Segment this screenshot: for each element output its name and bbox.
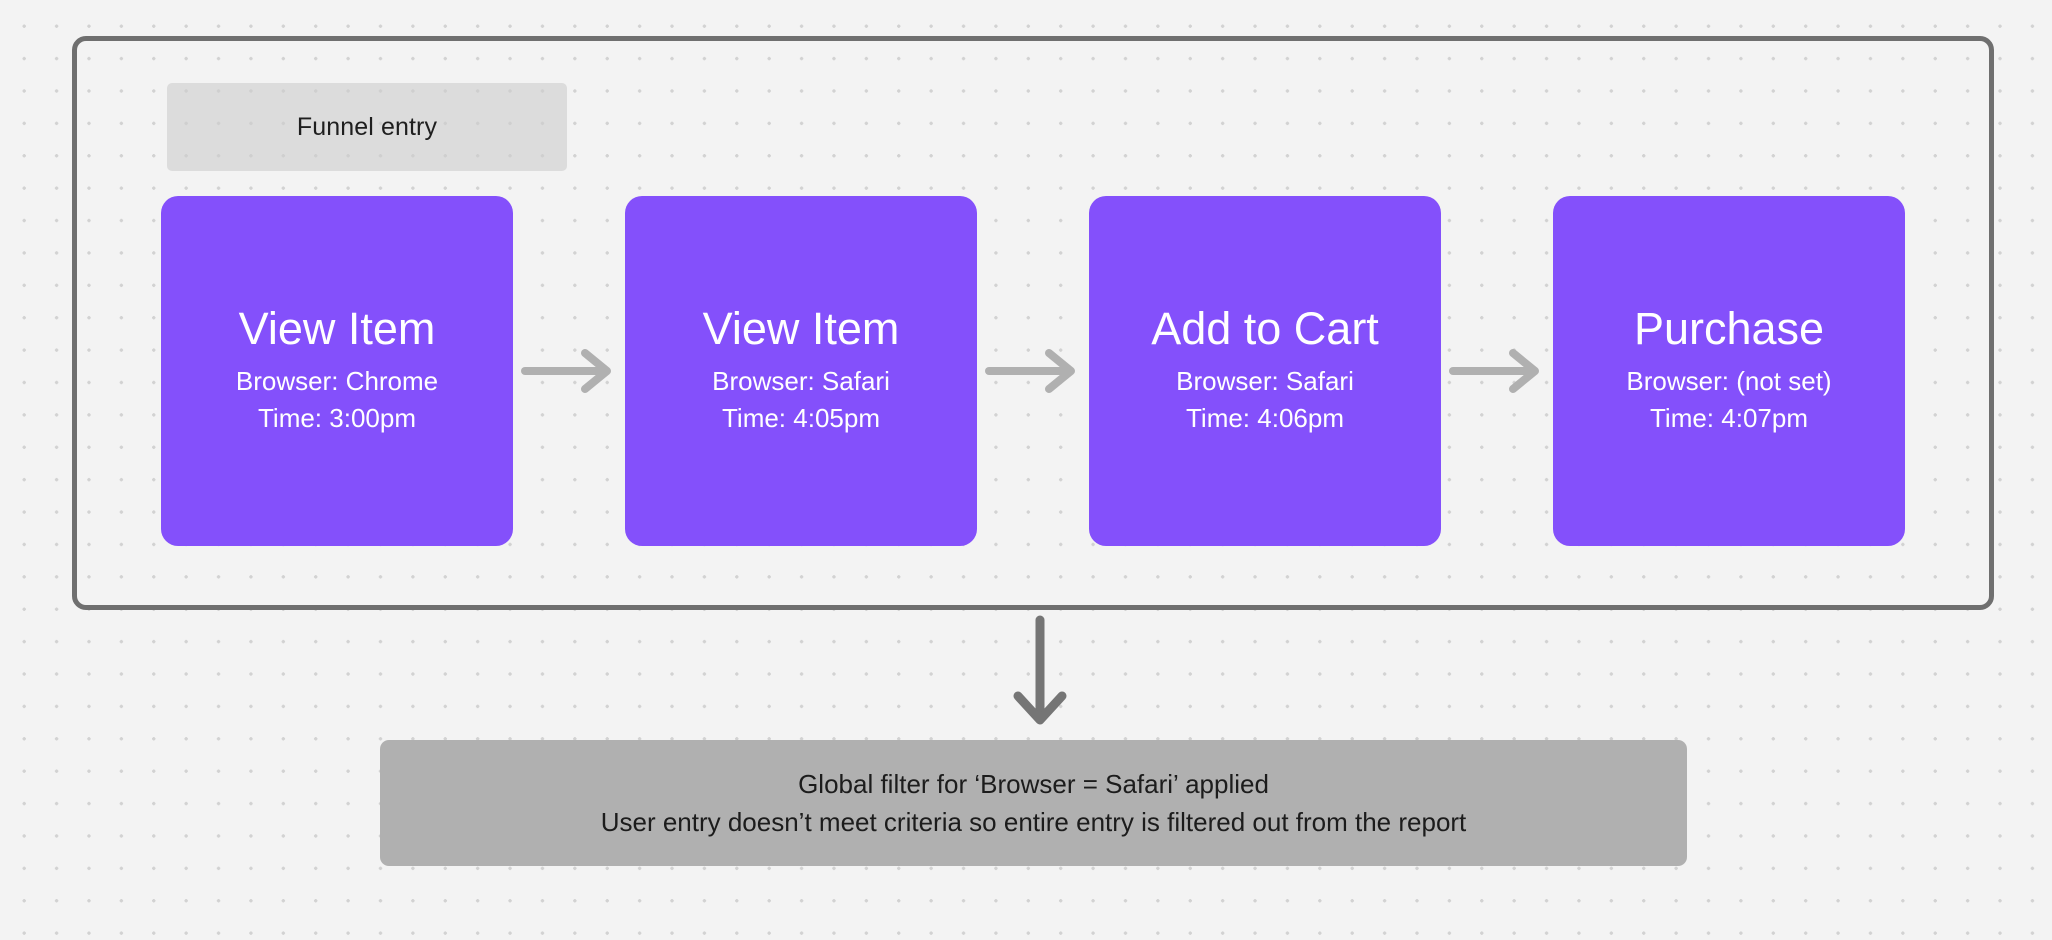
arrow-right-icon-3: [1441, 341, 1553, 401]
step-time: Time: 3:00pm: [258, 400, 416, 437]
funnel-entry-container: Funnel entry View Item Browser: Chrome T…: [72, 36, 1994, 610]
funnel-step-card-2[interactable]: View Item Browser: Safari Time: 4:05pm: [625, 196, 977, 546]
funnel-step-card-3[interactable]: Add to Cart Browser: Safari Time: 4:06pm: [1089, 196, 1441, 546]
funnel-step-card-1[interactable]: View Item Browser: Chrome Time: 3:00pm: [161, 196, 513, 546]
filter-note-line-1: Global filter for ‘Browser = Safari’ app…: [798, 765, 1269, 803]
filter-note-banner: Global filter for ‘Browser = Safari’ app…: [380, 740, 1687, 866]
funnel-entry-label: Funnel entry: [167, 83, 567, 171]
step-time: Time: 4:06pm: [1186, 400, 1344, 437]
step-title: View Item: [239, 305, 436, 353]
step-time: Time: 4:07pm: [1650, 400, 1808, 437]
step-browser: Browser: (not set): [1626, 363, 1831, 400]
arrow-right-icon-1: [513, 341, 625, 401]
funnel-step-card-4[interactable]: Purchase Browser: (not set) Time: 4:07pm: [1553, 196, 1905, 546]
step-browser: Browser: Chrome: [236, 363, 438, 400]
funnel-entry-label-text: Funnel entry: [297, 113, 437, 142]
step-title: Add to Cart: [1151, 305, 1379, 353]
arrow-down-icon: [1010, 614, 1070, 730]
step-browser: Browser: Safari: [1176, 363, 1354, 400]
step-time: Time: 4:05pm: [722, 400, 880, 437]
step-title: View Item: [703, 305, 900, 353]
step-title: Purchase: [1634, 305, 1824, 353]
filter-note-line-2: User entry doesn’t meet criteria so enti…: [601, 803, 1467, 841]
arrow-right-icon-2: [977, 341, 1089, 401]
funnel-steps-row: View Item Browser: Chrome Time: 3:00pm V…: [77, 196, 1989, 546]
step-browser: Browser: Safari: [712, 363, 890, 400]
